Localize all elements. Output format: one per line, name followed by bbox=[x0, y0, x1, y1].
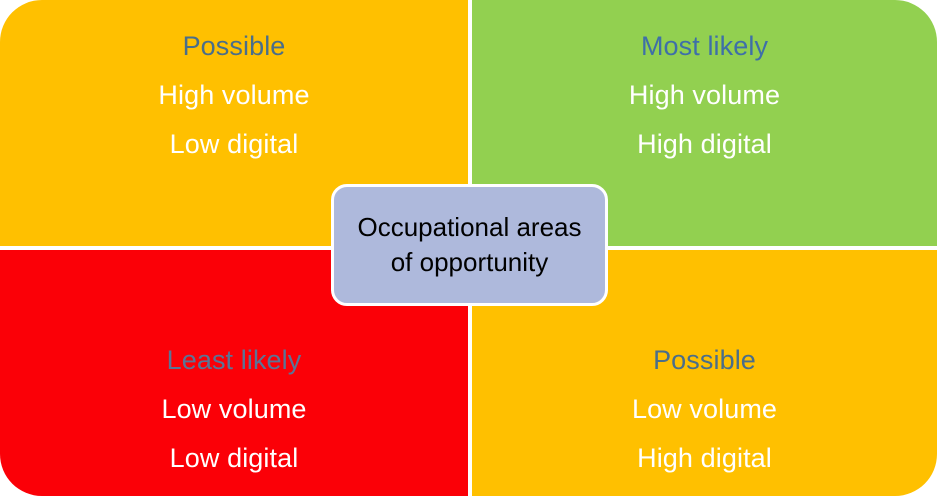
quadrant-top-left-line1: High volume bbox=[158, 71, 309, 120]
quadrant-bottom-left-line1: Low volume bbox=[161, 385, 306, 434]
quadrant-top-left-line2: Low digital bbox=[170, 120, 299, 169]
quadrant-top-right-line1: High volume bbox=[629, 71, 780, 120]
quadrant-bottom-right-heading: Possible bbox=[653, 336, 756, 385]
quadrant-bottom-right-line2: High digital bbox=[637, 434, 772, 483]
quadrant-bottom-left-line2: Low digital bbox=[170, 434, 299, 483]
center-label-line1: Occupational areas bbox=[357, 210, 581, 245]
center-label-line2: of opportunity bbox=[391, 245, 549, 280]
quadrant-top-right-heading: Most likely bbox=[641, 22, 768, 71]
quadrant-bottom-right-line1: Low volume bbox=[632, 385, 777, 434]
quadrant-top-right-line2: High digital bbox=[637, 120, 772, 169]
quadrant-top-left-heading: Possible bbox=[183, 22, 286, 71]
matrix-diagram: Possible High volume Low digital Most li… bbox=[0, 0, 937, 496]
center-label-box[interactable]: Occupational areas of opportunity bbox=[331, 184, 608, 306]
quadrant-bottom-left-heading: Least likely bbox=[167, 336, 302, 385]
